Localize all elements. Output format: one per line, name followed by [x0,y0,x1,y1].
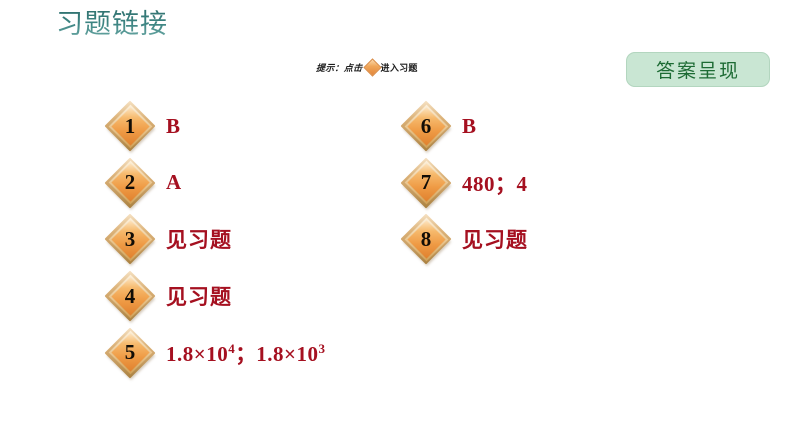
question-diamond-button-5[interactable]: 5 [104,327,156,379]
answer-value-3: 见习题 [166,224,232,254]
question-number-label: 1 [104,100,156,153]
hint-line: 提示：点击 进入习题 [316,61,418,74]
answer-row: 1B [104,98,325,155]
answer-row: 2A [104,155,325,212]
answer-value-7: 480；4 [462,168,528,198]
question-diamond-button-2[interactable]: 2 [104,157,156,209]
answer-value-8: 见习题 [462,224,528,254]
question-diamond-button-6[interactable]: 6 [400,100,452,152]
answer-row: 7480；4 [400,155,528,212]
question-number-label: 4 [104,270,156,323]
question-diamond-button-7[interactable]: 7 [400,157,452,209]
answer-presentation-label: 答案呈现 [656,56,740,83]
answer-row: 6B [400,98,528,155]
answer-row: 8见习题 [400,211,528,268]
question-diamond-button-8[interactable]: 8 [400,213,452,265]
answer-row: 3见习题 [104,211,325,268]
answer-segment: 1.8×10 [256,342,318,366]
answer-segment: ； [235,342,256,366]
question-number-label: 6 [400,100,452,153]
page-title: 习题链接 [56,8,168,42]
answer-presentation-badge[interactable]: 答案呈现 [626,52,770,87]
answer-value-6: B [462,114,477,139]
orange-diamond-icon [363,58,381,76]
answer-value-5: 1.8×104；1.8×103 [166,338,325,368]
question-number-label: 2 [104,157,156,210]
answer-column-right: 6B7480；48见习题 [400,98,528,268]
answer-segment: 1.8×10 [166,342,228,366]
answer-row: 4见习题 [104,268,325,325]
answer-column-left: 1B2A3见习题4见习题51.8×104；1.8×103 [104,98,325,381]
exponent: 3 [318,341,325,356]
question-number-label: 8 [400,213,452,266]
question-diamond-button-1[interactable]: 1 [104,100,156,152]
question-diamond-button-3[interactable]: 3 [104,213,156,265]
answer-row: 51.8×104；1.8×103 [104,324,325,381]
answer-value-2: A [166,170,182,195]
question-number-label: 5 [104,327,156,380]
answer-value-1: B [166,114,181,139]
question-number-label: 7 [400,157,452,210]
question-diamond-button-4[interactable]: 4 [104,270,156,322]
answer-value-4: 见习题 [166,281,232,311]
question-number-label: 3 [104,213,156,266]
hint-prefix-label: 提示：点击 [316,61,363,74]
hint-suffix-label: 进入习题 [381,61,418,74]
